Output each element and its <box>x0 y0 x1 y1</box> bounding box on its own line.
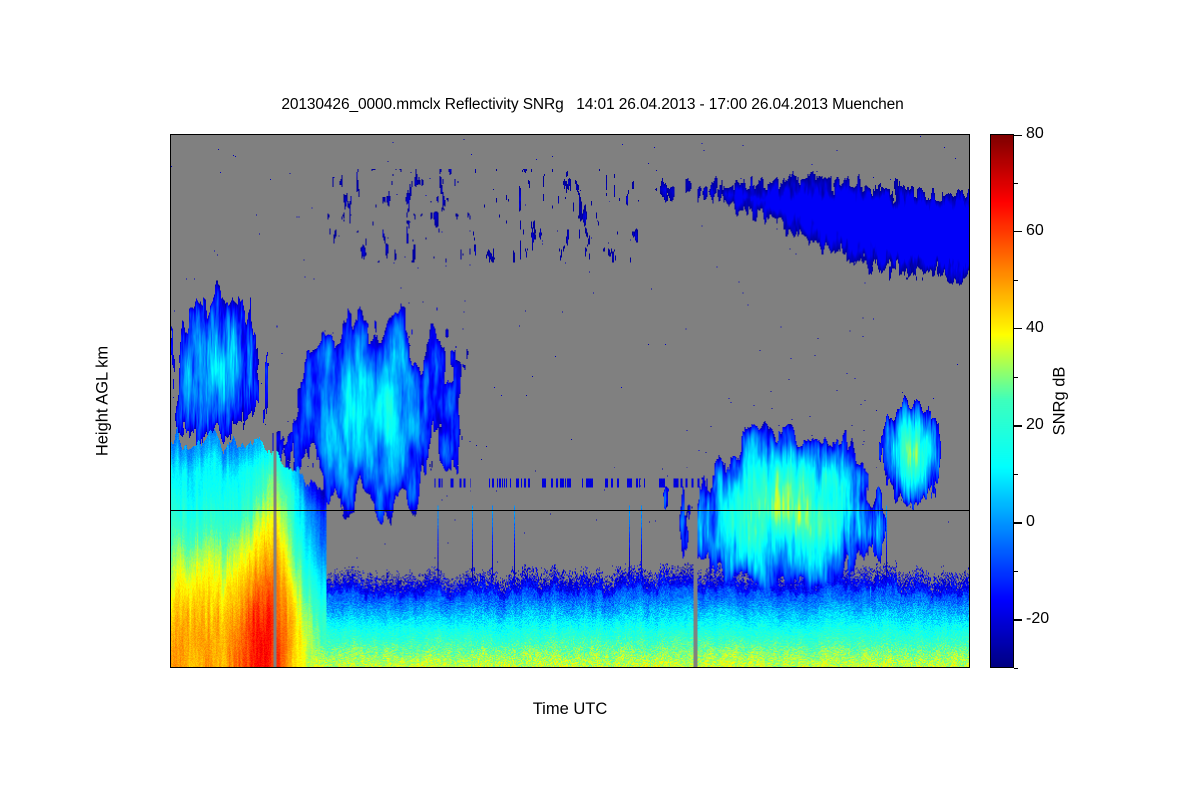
colorbar-tick-major <box>1014 231 1022 232</box>
x-tick-minor <box>792 667 793 668</box>
y-tick-major <box>969 489 970 490</box>
x-tick-minor <box>479 134 480 135</box>
colorbar-tick-minor <box>1014 377 1018 378</box>
x-tick-major <box>837 134 838 135</box>
y-tick-minor <box>170 354 171 355</box>
plot-area[interactable]: 246810 14:3015:0015:3016:0016:3017:00 <box>170 134 970 668</box>
colorbar-tick-major <box>1014 619 1022 620</box>
x-tick-minor <box>345 667 346 668</box>
x-tick-major <box>569 134 570 135</box>
figure-canvas: 20130426_0000.mmclx Reflectivity SNRg 14… <box>0 0 1200 800</box>
y-tick-minor <box>969 354 970 355</box>
x-tick-major <box>301 667 302 668</box>
x-tick-minor <box>748 134 749 135</box>
y-tick-minor <box>969 534 970 535</box>
colorbar-tick-minor <box>1014 183 1018 184</box>
x-tick-minor <box>613 134 614 135</box>
y-tick-minor <box>170 263 171 264</box>
x-tick-major <box>435 667 436 668</box>
colorbar-label: SNRg dB <box>1051 367 1070 436</box>
colorbar-tick-label: 40 <box>1026 319 1044 337</box>
colorbar-tick-label: 60 <box>1026 222 1044 240</box>
y-tick-minor <box>969 444 970 445</box>
colorbar-tick-major <box>1014 135 1022 136</box>
y-tick-minor <box>969 624 970 625</box>
colorbar-tick-minor <box>1014 474 1018 475</box>
reflectivity-heatmap[interactable] <box>171 135 969 667</box>
x-tick-major <box>435 134 436 135</box>
x-axis-label: Time UTC <box>533 700 608 719</box>
y-tick-minor <box>170 444 171 445</box>
colorbar-tick-major <box>1014 425 1022 426</box>
x-tick-minor <box>390 134 391 135</box>
y-tick-major <box>969 308 970 309</box>
x-tick-major <box>703 667 704 668</box>
x-tick-minor <box>256 667 257 668</box>
x-tick-minor <box>882 134 883 135</box>
x-tick-minor <box>345 134 346 135</box>
y-tick-major <box>170 579 171 580</box>
y-tick-minor <box>170 534 171 535</box>
y-tick-minor <box>969 173 970 174</box>
y-axis-label: Height AGL km <box>94 346 113 456</box>
x-tick-major <box>837 667 838 668</box>
colorbar[interactable] <box>990 134 1014 668</box>
colorbar-tick-label: -20 <box>1026 610 1049 628</box>
x-tick-minor <box>613 667 614 668</box>
y-tick-major <box>969 399 970 400</box>
colorbar-tick-label: 80 <box>1026 125 1044 143</box>
y-tick-minor <box>969 263 970 264</box>
melting-layer-line <box>171 510 969 511</box>
x-tick-minor <box>524 667 525 668</box>
x-tick-minor <box>926 667 927 668</box>
x-tick-minor <box>479 667 480 668</box>
colorbar-tick-minor <box>1014 280 1018 281</box>
x-tick-minor <box>792 134 793 135</box>
y-tick-minor <box>170 173 171 174</box>
x-tick-minor <box>748 667 749 668</box>
x-tick-major <box>569 667 570 668</box>
y-tick-major <box>969 218 970 219</box>
y-tick-major <box>969 579 970 580</box>
colorbar-tick-minor <box>1014 668 1018 669</box>
x-tick-minor <box>658 667 659 668</box>
y-tick-major <box>170 399 171 400</box>
y-tick-major <box>170 218 171 219</box>
x-tick-minor <box>658 134 659 135</box>
colorbar-tick-major <box>1014 522 1022 523</box>
x-tick-minor <box>256 134 257 135</box>
page-title: 20130426_0000.mmclx Reflectivity SNRg 14… <box>0 96 1185 114</box>
colorbar-tick-label: 20 <box>1026 416 1044 434</box>
y-tick-major <box>170 308 171 309</box>
x-tick-minor <box>211 134 212 135</box>
x-tick-minor <box>390 667 391 668</box>
x-tick-major <box>703 134 704 135</box>
colorbar-gradient <box>991 135 1013 667</box>
colorbar-tick-minor <box>1014 571 1018 572</box>
y-tick-minor <box>170 624 171 625</box>
x-tick-major <box>301 134 302 135</box>
x-tick-minor <box>211 667 212 668</box>
y-tick-major <box>170 489 171 490</box>
x-tick-minor <box>926 134 927 135</box>
x-tick-minor <box>882 667 883 668</box>
x-tick-minor <box>524 134 525 135</box>
colorbar-tick-label: 0 <box>1026 513 1035 531</box>
colorbar-tick-major <box>1014 328 1022 329</box>
